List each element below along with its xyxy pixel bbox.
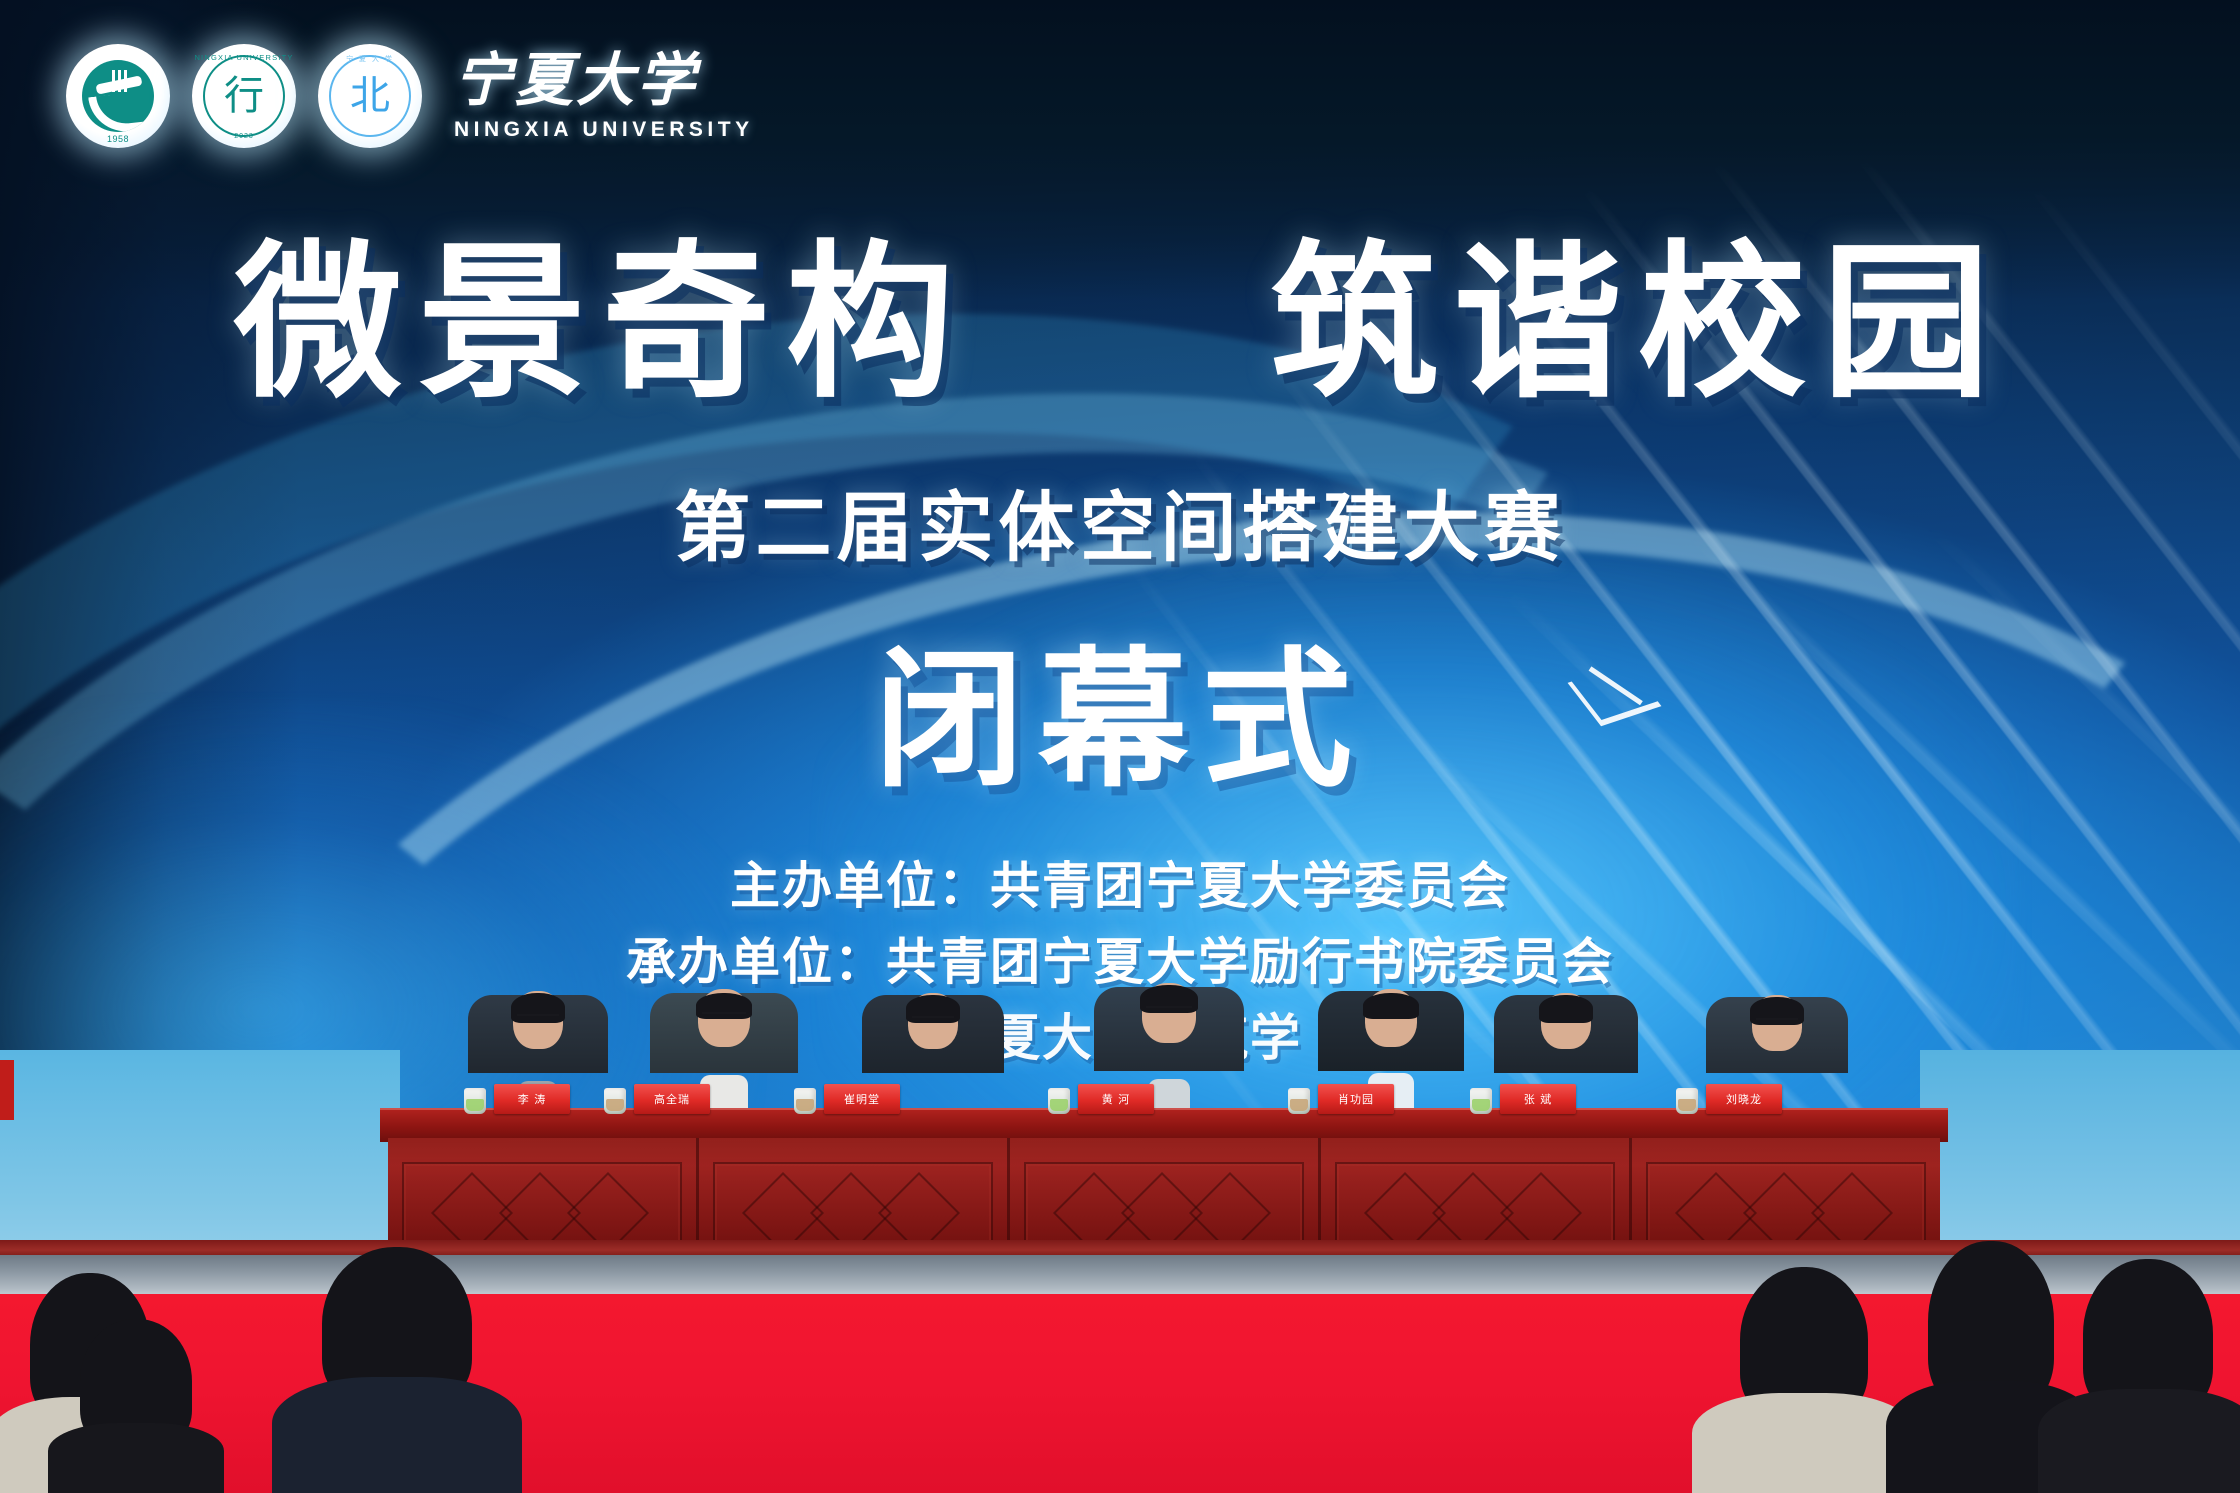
ningxia-university-seal-icon: 1958 — [66, 44, 170, 148]
water-cup — [1470, 1088, 1492, 1114]
nameplate: 崔明堂 — [824, 1084, 900, 1114]
credit-line-organizer: 主办单位：共青团宁夏大学委员会 — [0, 848, 2240, 924]
nameplate-row: 李 涛 高全瑞 崔明堂 黄 河 肖功园 张 斌 刘晓龙 — [388, 1082, 1948, 1114]
headline-left: 微景奇构 — [234, 238, 970, 406]
seal-arc-top-text: NINGXIA UNIVERSITY — [192, 53, 296, 62]
seal-year-1958: 1958 — [66, 134, 170, 144]
lixing-college-seal-icon: NINGXIA UNIVERSITY 行 2023 — [192, 44, 296, 148]
banner-headline: 微景奇构 筑谐校园 — [0, 238, 2240, 406]
wordmark-chinese: 宁夏大学 — [454, 51, 754, 109]
seal-motif-bars — [112, 70, 128, 92]
seal-inner-ring — [329, 55, 411, 137]
nameplate: 黄 河 — [1078, 1084, 1154, 1114]
water-cup — [1676, 1088, 1698, 1114]
water-cup — [464, 1088, 486, 1114]
audience-member — [1692, 1278, 1916, 1493]
logo-bar: 1958 NINGXIA UNIVERSITY 行 2023 宁 夏 大 学 北… — [66, 44, 754, 148]
nameplate: 刘晓龙 — [1706, 1084, 1782, 1114]
banner-ceremony-title: 闭幕式 — [0, 645, 2240, 795]
event-photo-scene: 1958 NINGXIA UNIVERSITY 行 2023 宁 夏 大 学 北… — [0, 0, 2240, 1493]
seal-year-2023: 2023 — [192, 133, 296, 140]
triangle-outline-icon — [1578, 672, 1646, 712]
banner-subtitle: 第二届实体空间搭建大赛 — [0, 490, 2240, 566]
school-of-architecture-seal-icon: 宁 夏 大 学 北 — [318, 44, 422, 148]
water-cup — [794, 1088, 816, 1114]
university-wordmark: 宁夏大学 NINGXIA UNIVERSITY — [454, 51, 754, 142]
seal-inner-ring — [203, 55, 285, 137]
water-cup — [604, 1088, 626, 1114]
seal-arc-top-text: 宁 夏 大 学 — [318, 54, 422, 64]
nameplate: 张 斌 — [1500, 1084, 1576, 1114]
nameplate: 李 涛 — [494, 1084, 570, 1114]
nameplate: 肖功园 — [1318, 1084, 1394, 1114]
audience-member — [2038, 1268, 2240, 1493]
nameplate: 高全瑞 — [634, 1084, 710, 1114]
audience-member — [48, 1328, 224, 1493]
water-cup — [1288, 1088, 1310, 1114]
audience-member — [272, 1258, 522, 1493]
headline-right: 筑谐校园 — [1270, 238, 2006, 406]
water-cup — [1048, 1088, 1070, 1114]
wordmark-english: NINGXIA UNIVERSITY — [454, 118, 754, 142]
